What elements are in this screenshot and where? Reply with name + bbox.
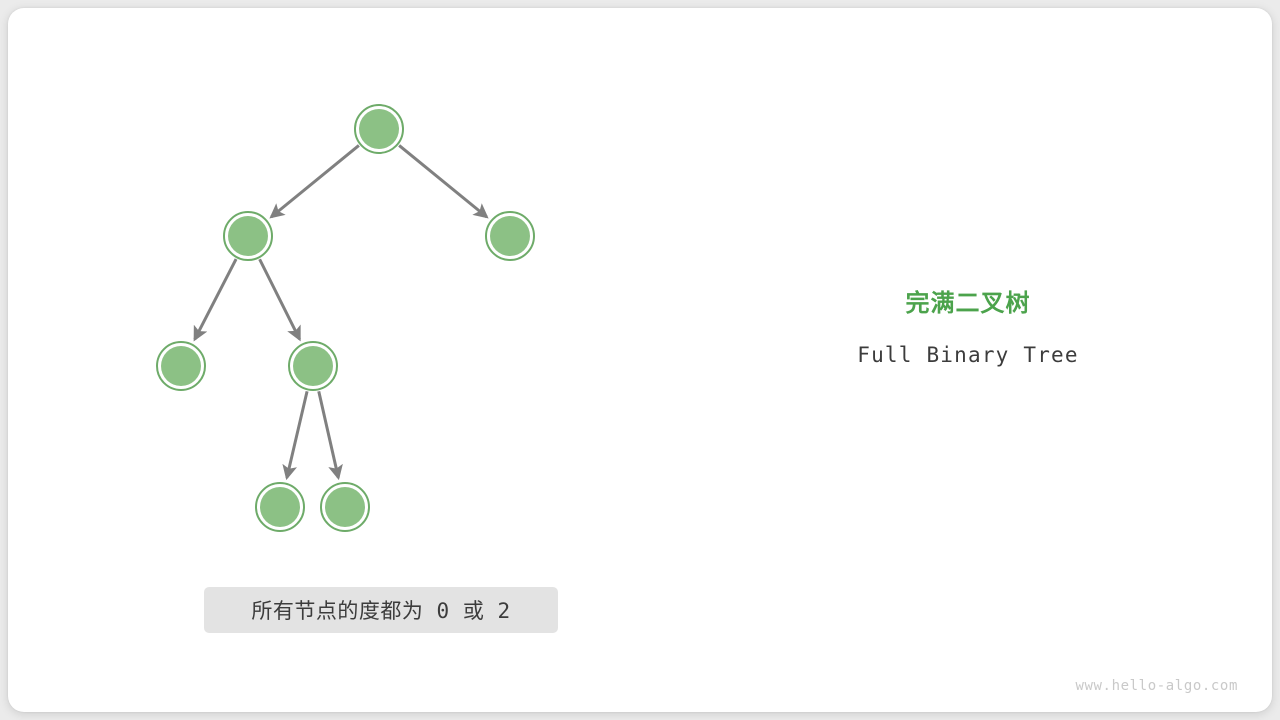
watermark-url: www.hello-algo.com — [1075, 678, 1238, 694]
title-english: Full Binary Tree — [768, 319, 1168, 367]
tree-node-body — [359, 109, 399, 149]
tree-edge — [319, 391, 339, 477]
tree-node — [486, 212, 534, 260]
caption-label: 所有节点的度都为 0 或 2 — [251, 595, 510, 625]
tree-node-body — [260, 487, 300, 527]
tree-node — [355, 105, 403, 153]
tree-edge — [271, 145, 359, 217]
caption-pill: 所有节点的度都为 0 或 2 — [204, 587, 558, 633]
tree-node — [256, 483, 304, 531]
tree-type-label: 完满二叉树 Full Binary Tree — [768, 290, 1168, 367]
tree-node-body — [228, 216, 268, 256]
tree-node-body — [293, 346, 333, 386]
tree-node — [157, 342, 205, 390]
diagram-canvas: 完满二叉树 Full Binary Tree 所有节点的度都为 0 或 2 ww… — [0, 0, 1280, 720]
tree-edge — [399, 145, 487, 217]
tree-node-body — [325, 487, 365, 527]
title-chinese: 完满二叉树 — [768, 290, 1168, 319]
tree-node-body — [490, 216, 530, 256]
tree-edge — [260, 259, 300, 339]
tree-node-layer — [157, 105, 534, 531]
tree-edge — [287, 391, 307, 477]
tree-node-body — [161, 346, 201, 386]
tree-node — [321, 483, 369, 531]
tree-edge-layer — [195, 145, 487, 477]
tree-node — [224, 212, 272, 260]
tree-edge — [195, 259, 236, 339]
tree-node — [289, 342, 337, 390]
